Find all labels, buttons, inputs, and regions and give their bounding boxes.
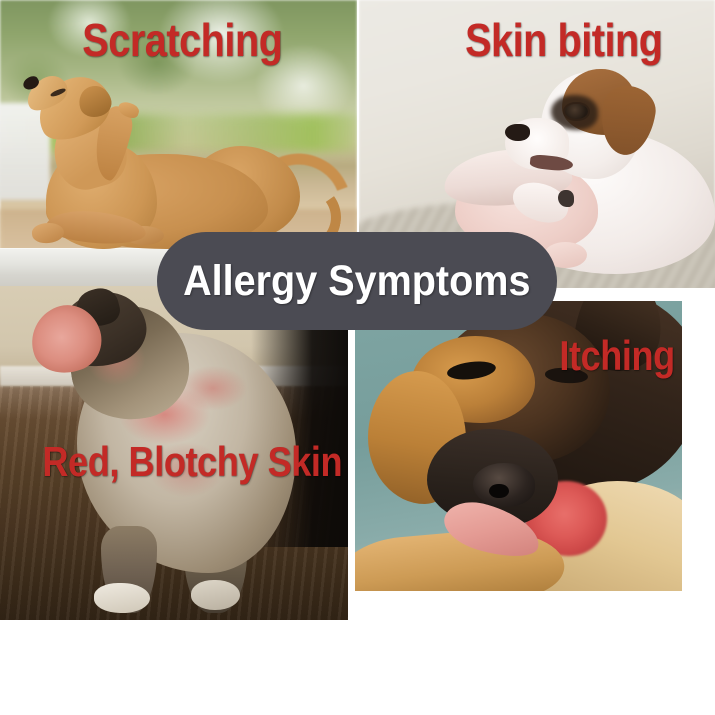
photo-dog-red-blotchy-skin [0,286,348,620]
puppy-nail [558,190,574,207]
panel-red-blotchy-skin[interactable] [0,286,348,620]
allergy-symptoms-title: Allergy Symptoms [183,257,530,306]
shepherd-nostril [489,484,509,499]
allergy-symptoms-poster: Scratching Skin biting [0,0,715,715]
photo-dog-itching [355,301,682,591]
puppy-eye [565,104,587,120]
allergy-symptoms-badge: Allergy Symptoms [157,232,557,330]
dog-hind-paw [191,580,240,610]
puppy-nose [505,124,530,141]
dog-front-paw [94,583,150,613]
panel-itching[interactable] [355,301,682,591]
